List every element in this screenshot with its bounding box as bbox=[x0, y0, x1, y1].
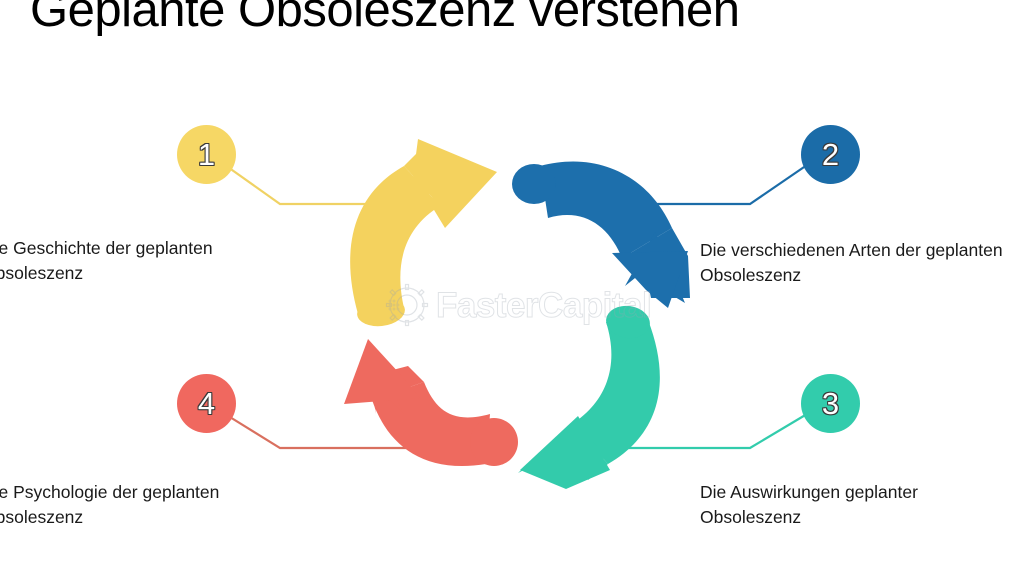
cycle-step-caption-1: Die Geschichte der geplanten Obsoleszenz bbox=[0, 236, 302, 287]
cycle-step-caption-3: Die Auswirkungen geplanter Obsoleszenz bbox=[700, 480, 1020, 531]
cycle-step-caption-2: Die verschiedenen Arten der geplanten Ob… bbox=[700, 238, 1020, 289]
cycle-step-caption-4: Die Psychologie der geplanten Obsoleszen… bbox=[0, 480, 302, 531]
slide-canvas: Geplante Obsoleszenz verstehen bbox=[0, 0, 1024, 576]
cycle-step-badge-4[interactable]: 4 bbox=[177, 374, 236, 433]
cycle-arrow-3 bbox=[518, 303, 660, 489]
cycle-step-number-1: 1 bbox=[198, 139, 215, 170]
cycle-step-badge-3[interactable]: 3 bbox=[801, 374, 860, 433]
cycle-step-number-3: 3 bbox=[822, 388, 839, 419]
connector-lines bbox=[225, 165, 807, 448]
cycle-step-number-4: 4 bbox=[198, 388, 215, 419]
cycle-step-number-2: 2 bbox=[822, 139, 839, 170]
cycle-step-badge-2[interactable]: 2 bbox=[801, 125, 860, 184]
cycle-step-badge-1[interactable]: 1 bbox=[177, 125, 236, 184]
cycle-arrow-1 bbox=[350, 139, 497, 329]
cycle-arrow-2 bbox=[512, 161, 690, 308]
